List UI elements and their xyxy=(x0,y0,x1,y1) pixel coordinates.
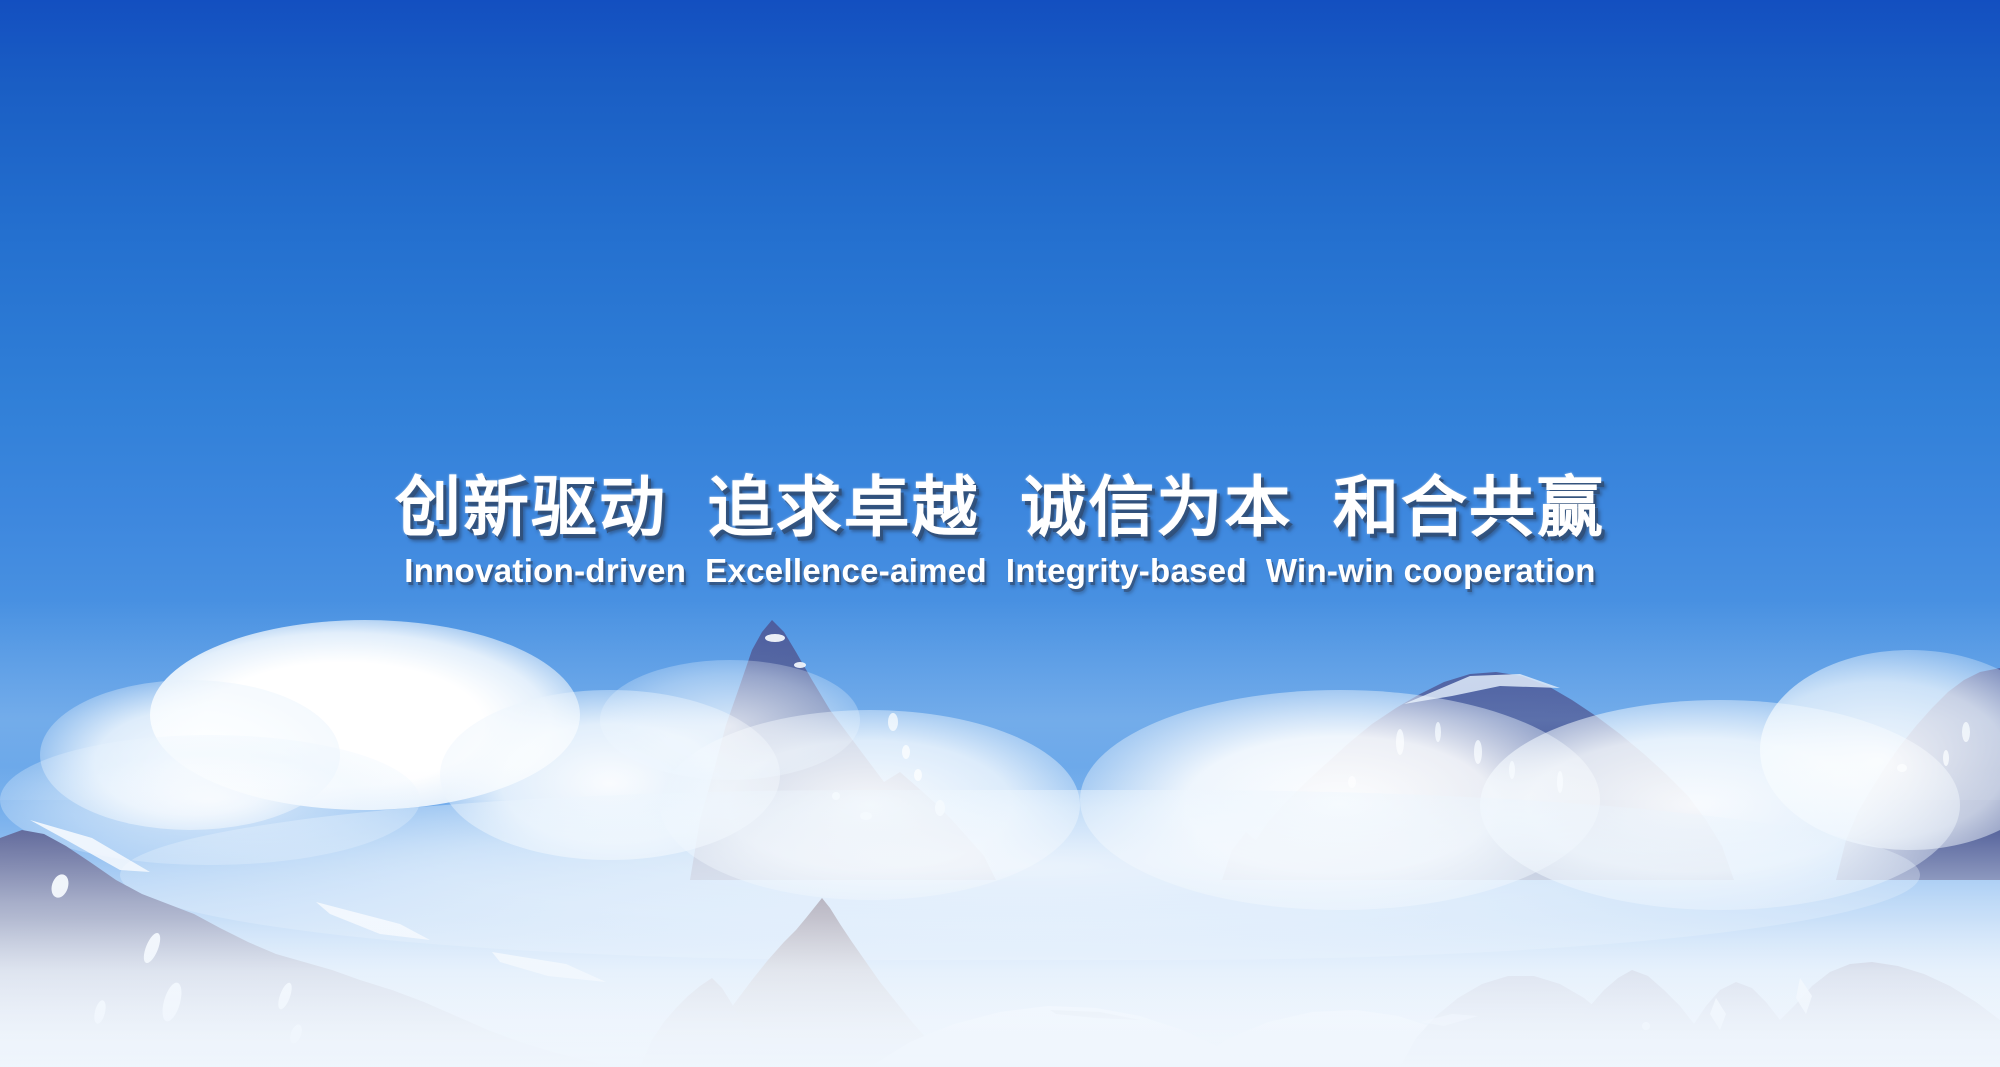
slogan-english: Innovation-driven Excellence-aimed Integ… xyxy=(0,552,2000,590)
snowfield-center xyxy=(870,1006,1240,1067)
banner-stage: 创新驱动 追求卓越 诚信为本 和合共赢 Innovation-driven Ex… xyxy=(0,0,2000,1067)
slogan-block: 创新驱动 追求卓越 诚信为本 和合共赢 Innovation-driven Ex… xyxy=(0,470,2000,590)
mountain-layer-foreground xyxy=(0,790,2000,1067)
ridge-left-foreground xyxy=(0,830,610,1067)
ridge-far-right-crest xyxy=(1560,962,2000,1067)
slogan-chinese: 创新驱动 追求卓越 诚信为本 和合共赢 xyxy=(0,470,2000,544)
peak-center-sub xyxy=(640,978,760,1067)
